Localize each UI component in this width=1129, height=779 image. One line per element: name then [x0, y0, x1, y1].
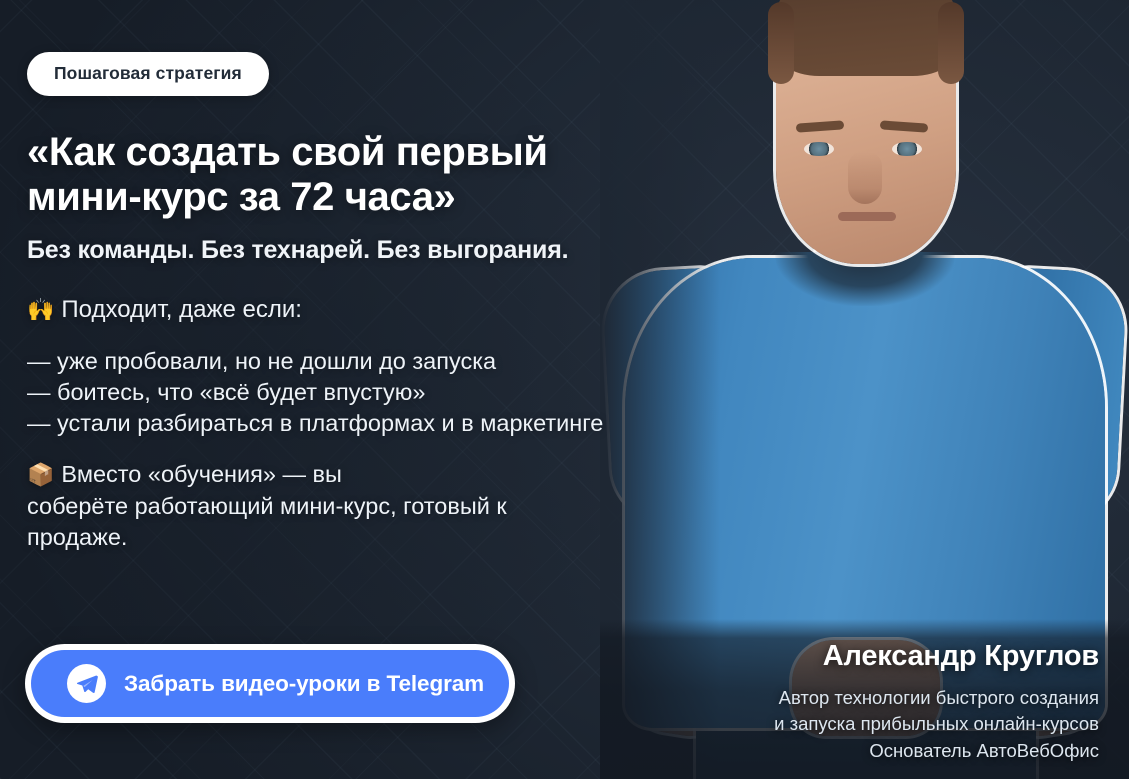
raising-hands-emoji: 🙌 [27, 297, 54, 322]
list-item: — боитесь, что «всё будет впустую» [27, 377, 612, 408]
headline-line-1: «Как создать свой первый [27, 130, 607, 175]
cta-label: Забрать видео-уроки в Telegram [124, 671, 484, 697]
outcome-line-2: соберёте работающий мини-курс, готовый к… [27, 493, 507, 550]
author-description: Автор технологии быстрого создания и зап… [679, 685, 1099, 765]
author-desc-line-1: Автор технологии быстрого создания [679, 685, 1099, 712]
nose [848, 152, 882, 204]
telegram-icon [67, 664, 106, 703]
benefit-list: — уже пробовали, но не дошли до запуска … [27, 346, 612, 440]
outcome-block: 📦Вместо «обучения» — вы соберёте работаю… [27, 459, 607, 553]
author-block: Александр Круглов Автор технологии быстр… [679, 640, 1099, 765]
author-desc-line-2: и запуска прибыльных онлайн-курсов [679, 711, 1099, 738]
eye-right [892, 142, 922, 156]
promo-banner: Пошаговая стратегия «Как создать свой пе… [0, 0, 1129, 779]
page-title: «Как создать свой первый мини-курс за 72… [27, 130, 607, 220]
list-item: — устали разбираться в платформах и в ма… [27, 408, 612, 439]
subheadline: Без команды. Без технарей. Без выгорания… [27, 236, 620, 265]
mouth [838, 212, 896, 221]
telegram-cta-button[interactable]: Забрать видео-уроки в Telegram [25, 644, 515, 723]
hair [770, 0, 962, 76]
cta-inner-fill[interactable]: Забрать видео-уроки в Telegram [31, 650, 509, 717]
author-name: Александр Круглов [679, 640, 1099, 673]
lead-text: Подходит, даже если: [61, 296, 302, 323]
outcome-line-1: Вместо «обучения» — вы [61, 461, 341, 487]
author-desc-line-3: Основатель АвтоВебОфис [679, 738, 1099, 765]
package-emoji: 📦 [27, 462, 54, 487]
eye-left [804, 142, 834, 156]
headline-line-2: мини-курс за 72 часа» [27, 175, 607, 220]
lead-line: 🙌Подходит, даже если: [27, 295, 620, 325]
list-item: — уже пробовали, но не дошли до запуска [27, 346, 612, 377]
strategy-badge: Пошаговая стратегия [27, 52, 269, 96]
